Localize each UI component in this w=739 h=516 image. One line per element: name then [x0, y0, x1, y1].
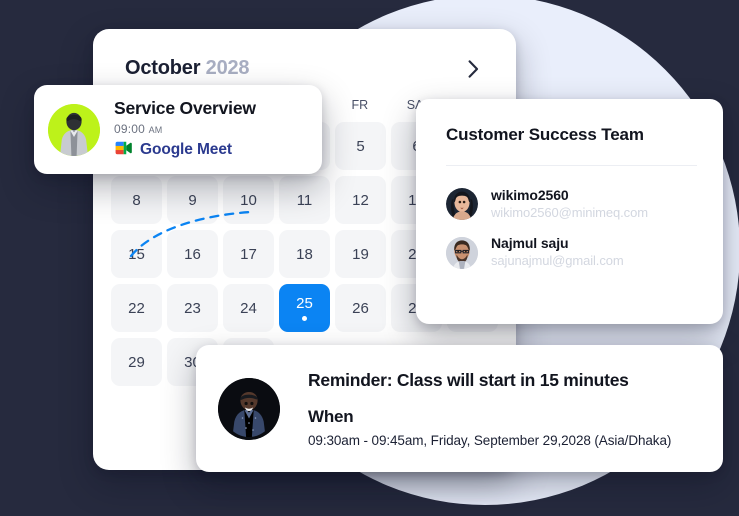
calendar-day-26[interactable]: 26 — [335, 284, 386, 332]
calendar-day-24[interactable]: 24 — [223, 284, 274, 332]
weekday-label-fr: FR — [332, 98, 387, 112]
event-dot-indicator — [302, 316, 307, 321]
service-overview-body: Service Overview 09:00 AM Google Meet — [100, 98, 256, 160]
service-title: Service Overview — [114, 98, 256, 118]
avatar — [446, 188, 478, 220]
calendar-month-label: October — [125, 57, 200, 79]
reminder-title: Reminder: Class will start in 15 minutes — [308, 370, 671, 391]
team-member-name: Najmul saju — [491, 235, 624, 253]
team-card-title: Customer Success Team — [446, 125, 697, 145]
calendar-day-number: 18 — [296, 247, 313, 262]
customer-success-team-card: Customer Success Team wikimo2560wikimo25… — [416, 99, 723, 324]
calendar-day-25[interactable]: 25 — [279, 284, 330, 332]
calendar-day-number: 11 — [297, 193, 313, 208]
calendar-day-number: 24 — [240, 301, 257, 316]
avatar — [48, 104, 100, 156]
calendar-day-number: 19 — [352, 247, 369, 262]
calendar-day-number: 22 — [128, 301, 145, 316]
calendar-day-22[interactable]: 22 — [111, 284, 162, 332]
calendar-day-number: 12 — [352, 193, 369, 208]
service-time-value: 09:00 — [114, 122, 145, 136]
calendar-day-17[interactable]: 17 — [223, 230, 274, 278]
calendar-day-23[interactable]: 23 — [167, 284, 218, 332]
calendar-year-label: 2028 — [206, 57, 250, 79]
service-time: 09:00 AM — [114, 122, 256, 136]
service-provider-label: Google Meet — [140, 141, 232, 159]
calendar-day-number: 15 — [128, 247, 145, 262]
avatar — [446, 237, 478, 269]
calendar-day-number: 25 — [296, 296, 313, 311]
team-member-row[interactable]: Najmul sajusajunajmul@gmail.com — [446, 228, 697, 276]
team-member-row[interactable]: wikimo2560wikimo2560@minimeq.com — [446, 180, 697, 228]
reminder-body: Reminder: Class will start in 15 minutes… — [280, 370, 671, 448]
service-overview-card[interactable]: Service Overview 09:00 AM Google Meet — [34, 85, 322, 174]
calendar-header: October 2028 — [93, 29, 516, 90]
divider — [446, 165, 697, 166]
team-member-name: wikimo2560 — [491, 187, 648, 205]
service-time-meridiem: AM — [149, 125, 163, 135]
team-member-text: wikimo2560wikimo2560@minimeq.com — [478, 187, 648, 221]
team-member-email: wikimo2560@minimeq.com — [491, 205, 648, 222]
google-meet-icon — [114, 140, 133, 161]
calendar-day-number: 17 — [240, 247, 257, 262]
calendar-day-number: 8 — [132, 193, 140, 208]
team-member-text: Najmul sajusajunajmul@gmail.com — [478, 235, 624, 269]
calendar-day-number: 23 — [184, 301, 201, 316]
team-member-email: sajunajmul@gmail.com — [491, 253, 624, 270]
reminder-card: Reminder: Class will start in 15 minutes… — [196, 345, 723, 472]
calendar-day-12[interactable]: 12 — [335, 176, 386, 224]
calendar-day-15[interactable]: 15 — [111, 230, 162, 278]
team-member-list: wikimo2560wikimo2560@minimeq.comNajmul s… — [446, 180, 697, 277]
reminder-when-value: 09:30am - 09:45am, Friday, September 29,… — [308, 433, 671, 448]
calendar-day-number: 9 — [188, 193, 196, 208]
calendar-day-18[interactable]: 18 — [279, 230, 330, 278]
calendar-day-16[interactable]: 16 — [167, 230, 218, 278]
chevron-right-icon[interactable] — [462, 58, 484, 80]
avatar — [218, 378, 280, 440]
calendar-day-11[interactable]: 11 — [279, 176, 330, 224]
calendar-day-number: 5 — [356, 139, 364, 154]
calendar-day-number: 26 — [352, 301, 369, 316]
service-provider-row[interactable]: Google Meet — [114, 140, 256, 161]
calendar-day-29[interactable]: 29 — [111, 338, 162, 386]
calendar-day-number: 10 — [240, 193, 257, 208]
calendar-day-number: 16 — [184, 247, 201, 262]
calendar-day-number: 29 — [128, 355, 145, 370]
calendar-day-9[interactable]: 9 — [167, 176, 218, 224]
calendar-day-10[interactable]: 10 — [223, 176, 274, 224]
calendar-month-year: October 2028 — [125, 57, 249, 80]
calendar-day-5[interactable]: 5 — [335, 122, 386, 170]
calendar-day-8[interactable]: 8 — [111, 176, 162, 224]
calendar-day-19[interactable]: 19 — [335, 230, 386, 278]
reminder-when-label: When — [308, 407, 671, 427]
